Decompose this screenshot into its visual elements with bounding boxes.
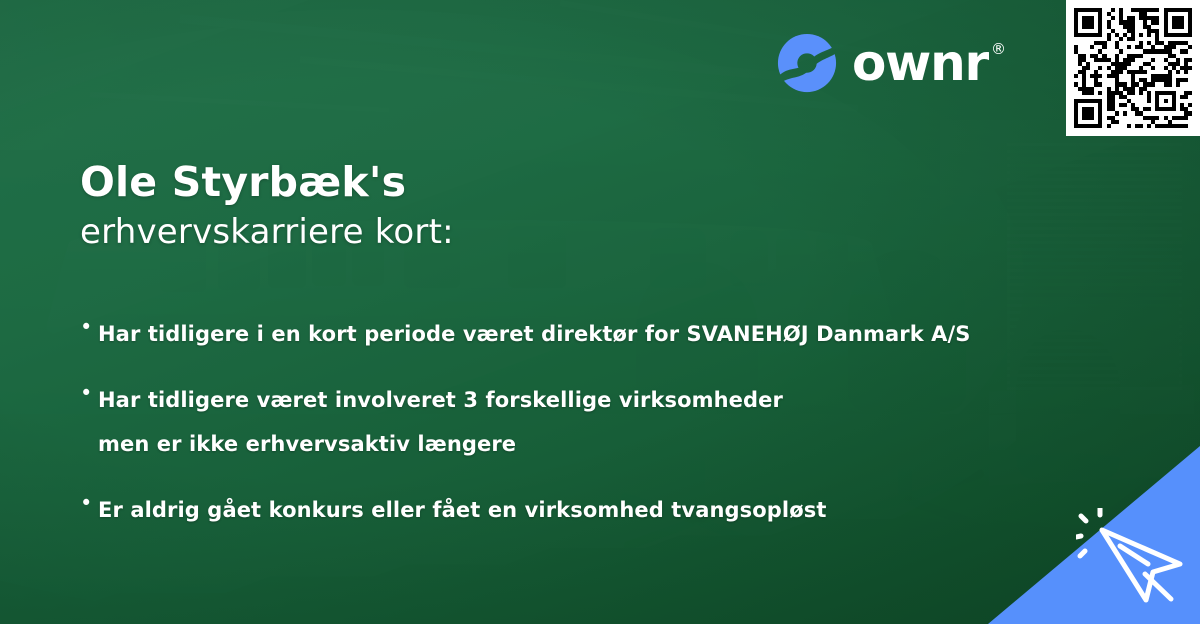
bullet-marker-icon: • (80, 378, 98, 409)
page-title: Ole Styrbæk's erhvervskarriere kort: (80, 158, 454, 255)
registered-trademark-symbol: ® (991, 42, 1006, 57)
career-facts-list: •Har tidligere i en kort periode været d… (80, 312, 1080, 554)
ownr-wordmark: ownr ® (852, 38, 1006, 88)
wordmark-text: ownr (852, 38, 988, 88)
bullet-marker-icon: • (80, 312, 98, 343)
click-cursor-icon (1076, 508, 1186, 608)
list-item-text: Er aldrig gået konkurs eller fået en vir… (98, 488, 826, 532)
business-card: ownr ® Ole Styrbæk's erhvervskarriere ko… (0, 0, 1200, 624)
qr-code-panel[interactable] (1066, 0, 1200, 136)
list-item: •Har tidligere været involveret 3 forske… (80, 378, 1080, 466)
ownr-circle-mark (776, 32, 838, 94)
list-item: •Er aldrig gået konkurs eller fået en vi… (80, 488, 1080, 532)
title-line-subtitle: erhvervskarriere kort: (80, 210, 454, 254)
list-item-text: Har tidligere i en kort periode været di… (98, 312, 971, 356)
bullet-marker-icon: • (80, 488, 98, 519)
list-item: •Har tidligere i en kort periode været d… (80, 312, 1080, 356)
list-item-text: Har tidligere været involveret 3 forskel… (98, 378, 783, 466)
title-line-name: Ole Styrbæk's (80, 158, 454, 206)
ownr-logo[interactable]: ownr ® (776, 32, 1006, 94)
qr-code-matrix (1074, 8, 1192, 128)
